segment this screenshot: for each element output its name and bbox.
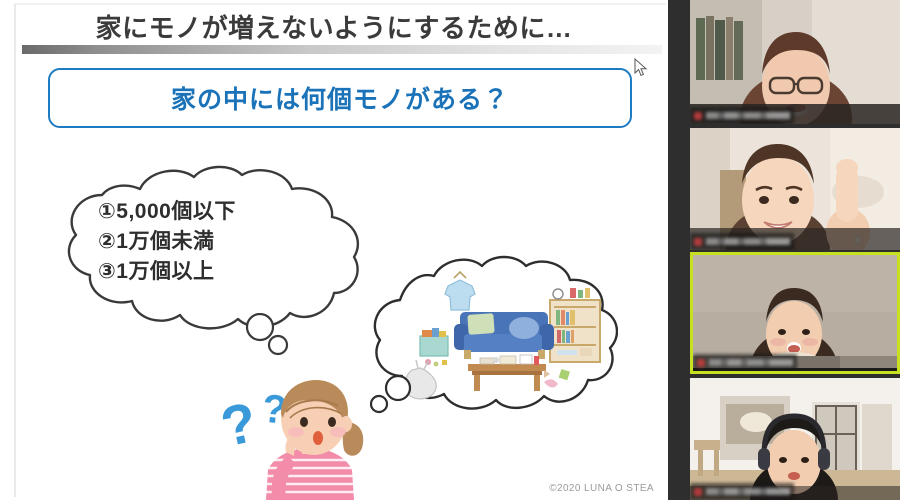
participant-video-3 xyxy=(690,252,900,368)
participant-name-chip-4 xyxy=(690,483,794,500)
question-box-text: 家の中には何個モノがある？ xyxy=(171,80,509,116)
answers-thought-cloud: ①5,000個以下 ②1万個未満 ③1万個以上 xyxy=(62,163,374,343)
thinking-character-illustration xyxy=(228,378,388,500)
participant-video-4 xyxy=(690,378,900,500)
participant-name-1 xyxy=(706,112,790,119)
microphone-muted-icon xyxy=(697,359,705,367)
room-thought-cloud xyxy=(368,252,618,432)
participant-tile-2[interactable] xyxy=(690,128,900,250)
microphone-muted-icon xyxy=(694,112,702,120)
participant-video-2 xyxy=(690,128,900,250)
mouse-pointer xyxy=(634,58,648,78)
participant-name-chip-2 xyxy=(690,233,794,250)
microphone-muted-icon xyxy=(694,488,702,496)
participant-tile-1[interactable] xyxy=(690,0,900,124)
bookshelf-icon xyxy=(550,288,600,362)
participant-name-chip-1 xyxy=(690,107,794,124)
question-box: 家の中には何個モノがある？ xyxy=(48,68,632,128)
slide-title: 家にモノが増えないようにするために… xyxy=(0,8,668,45)
answer-option-2: ②1万個未満 xyxy=(98,227,348,257)
participant-video-1 xyxy=(690,0,900,124)
answers-cloud-tail-bubbles xyxy=(238,313,308,359)
participant-tile-3[interactable] xyxy=(690,252,900,374)
participant-name-2 xyxy=(706,238,790,245)
screen-share-meeting-view: 家にモノが増えないようにするために… 家の中には何個モノがある？ ①5,000個… xyxy=(0,0,900,500)
answer-options: ①5,000個以下 ②1万個未満 ③1万個以上 xyxy=(98,197,348,286)
participant-name-3 xyxy=(709,359,793,366)
participant-name-4 xyxy=(706,488,790,495)
title-divider-bar xyxy=(22,45,662,54)
shared-slide: 家にモノが増えないようにするために… 家の中には何個モノがある？ ①5,000個… xyxy=(0,0,668,500)
panel-divider-strip xyxy=(668,0,690,500)
microphone-muted-icon xyxy=(694,238,702,246)
participant-video-panel xyxy=(690,0,900,500)
participant-tile-4[interactable] xyxy=(690,378,900,500)
participant-name-chip-3 xyxy=(693,354,797,371)
answer-option-1: ①5,000個以下 xyxy=(98,197,348,227)
answer-option-3: ③1万個以上 xyxy=(98,257,348,287)
sofa-icon xyxy=(454,312,554,359)
copyright-notice: ©2020 LUNA O STEA xyxy=(549,483,654,494)
